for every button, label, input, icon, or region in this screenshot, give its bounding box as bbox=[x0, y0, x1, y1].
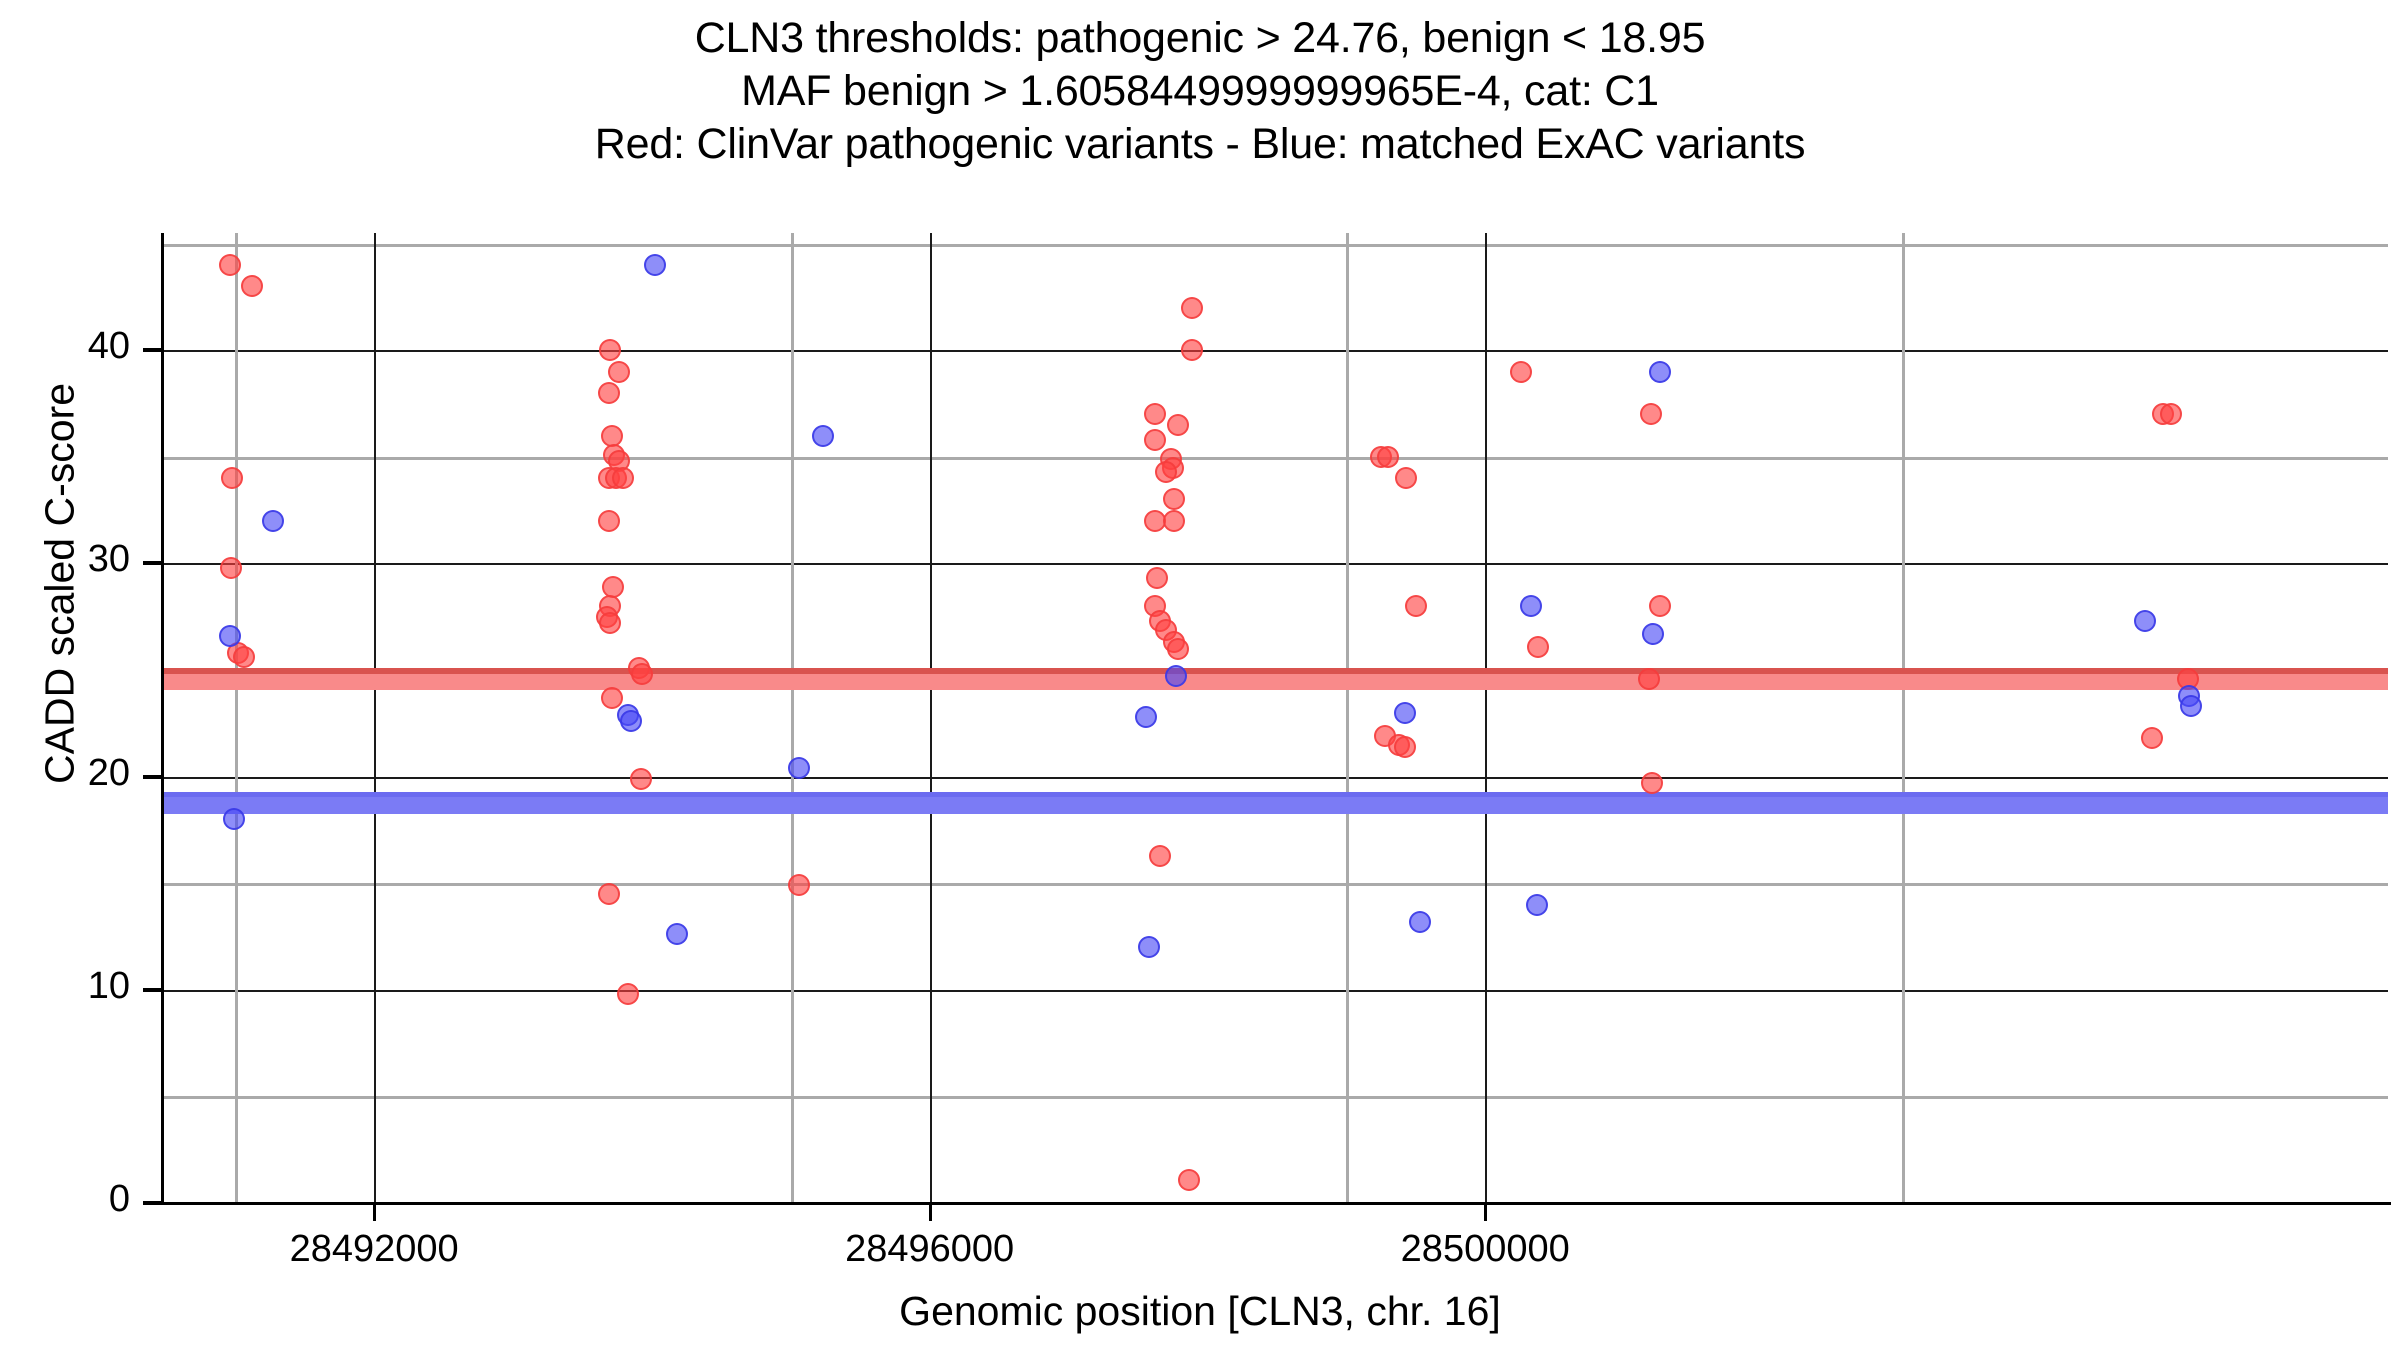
pathogenic-point bbox=[1163, 488, 1185, 510]
benign-point bbox=[2180, 695, 2202, 717]
benign-point bbox=[620, 710, 642, 732]
pathogenic-point bbox=[1167, 638, 1189, 660]
plot-area bbox=[163, 233, 2388, 1203]
pathogenic-point bbox=[241, 275, 263, 297]
pathogenic-point bbox=[219, 254, 241, 276]
pathogenic-point bbox=[612, 467, 634, 489]
y-tick-mark bbox=[143, 1201, 161, 1205]
benign-point bbox=[219, 625, 241, 647]
benign-threshold-line bbox=[163, 792, 2388, 814]
pathogenic-point bbox=[598, 382, 620, 404]
y-axis-line bbox=[161, 233, 164, 1205]
y-gridline-major bbox=[163, 777, 2388, 779]
pathogenic-point bbox=[1640, 403, 1662, 425]
y-gridline-major bbox=[163, 990, 2388, 992]
x-tick-mark bbox=[373, 1205, 376, 1221]
chart-title-line-3: Red: ClinVar pathogenic variants - Blue:… bbox=[0, 118, 2400, 171]
benign-point bbox=[812, 425, 834, 447]
benign-point bbox=[666, 923, 688, 945]
y-tick-label: 0 bbox=[20, 1178, 130, 1221]
y-gridline-major bbox=[163, 563, 2388, 565]
pathogenic-point bbox=[1178, 1169, 1200, 1191]
x-gridline-major bbox=[930, 233, 932, 1203]
pathogenic-point bbox=[601, 687, 623, 709]
y-tick-mark bbox=[143, 775, 161, 779]
benign-point bbox=[262, 510, 284, 532]
x-tick-label: 28492000 bbox=[214, 1228, 534, 1271]
pathogenic-point bbox=[630, 768, 652, 790]
pathogenic-point bbox=[233, 646, 255, 668]
chart-title-line-1: CLN3 thresholds: pathogenic > 24.76, ben… bbox=[0, 12, 2400, 65]
y-tick-mark bbox=[143, 348, 161, 352]
pathogenic-point bbox=[1641, 772, 1663, 794]
pathogenic-point bbox=[1163, 510, 1185, 532]
x-tick-mark bbox=[929, 1205, 932, 1221]
x-axis-title: Genomic position [CLN3, chr. 16] bbox=[0, 1288, 2400, 1335]
pathogenic-point bbox=[1394, 736, 1416, 758]
benign-point bbox=[1165, 665, 1187, 687]
pathogenic-point bbox=[1527, 636, 1549, 658]
y-gridline-minor bbox=[163, 244, 2388, 247]
pathogenic-point bbox=[221, 467, 243, 489]
y-tick-mark bbox=[143, 988, 161, 992]
x-gridline-minor bbox=[235, 233, 238, 1203]
x-tick-label: 28496000 bbox=[770, 1228, 1090, 1271]
benign-point bbox=[1526, 894, 1548, 916]
x-axis-line bbox=[163, 1202, 2391, 1205]
chart-title: CLN3 thresholds: pathogenic > 24.76, ben… bbox=[0, 12, 2400, 171]
y-tick-mark bbox=[143, 561, 161, 565]
pathogenic-point bbox=[1144, 403, 1166, 425]
pathogenic-point bbox=[220, 557, 242, 579]
y-gridline-major bbox=[163, 350, 2388, 352]
benign-point bbox=[1520, 595, 1542, 617]
pathogenic-point bbox=[1146, 567, 1168, 589]
benign-point bbox=[1394, 702, 1416, 724]
y-gridline-minor bbox=[163, 457, 2388, 460]
benign-point bbox=[2134, 610, 2156, 632]
pathogenic-point bbox=[599, 339, 621, 361]
pathogenic-point bbox=[1167, 414, 1189, 436]
pathogenic-point bbox=[2141, 727, 2163, 749]
pathogenic-point bbox=[617, 983, 639, 1005]
x-tick-label: 28500000 bbox=[1325, 1228, 1645, 1271]
x-gridline-major bbox=[374, 233, 376, 1203]
pathogenic-point bbox=[1181, 297, 1203, 319]
y-axis-title: CADD scaled C-score bbox=[37, 174, 84, 994]
x-gridline-minor bbox=[1346, 233, 1349, 1203]
pathogenic-point bbox=[1149, 845, 1171, 867]
scatter-plot-figure: CLN3 thresholds: pathogenic > 24.76, ben… bbox=[0, 0, 2400, 1350]
x-gridline-minor bbox=[791, 233, 794, 1203]
pathogenic-point bbox=[1649, 595, 1671, 617]
pathogenic-point bbox=[1155, 461, 1177, 483]
y-gridline-minor bbox=[163, 1096, 2388, 1099]
x-gridline-major bbox=[1485, 233, 1487, 1203]
pathogenic-point bbox=[2160, 403, 2182, 425]
x-gridline-minor bbox=[1902, 233, 1905, 1203]
pathogenic-point bbox=[1144, 429, 1166, 451]
pathogenic-point bbox=[1405, 595, 1427, 617]
pathogenic-point bbox=[599, 612, 621, 634]
pathogenic-point bbox=[1377, 446, 1399, 468]
pathogenic-point bbox=[598, 510, 620, 532]
benign-point bbox=[1409, 911, 1431, 933]
pathogenic-point bbox=[1510, 361, 1532, 383]
benign-point bbox=[1642, 623, 1664, 645]
chart-title-line-2: MAF benign > 1.6058449999999965E-4, cat:… bbox=[0, 65, 2400, 118]
benign-point bbox=[1138, 936, 1160, 958]
pathogenic-point bbox=[1181, 339, 1203, 361]
pathogenic-point bbox=[1638, 668, 1660, 690]
y-gridline-minor bbox=[163, 883, 2388, 886]
benign-point bbox=[1135, 706, 1157, 728]
benign-point bbox=[644, 254, 666, 276]
pathogenic-point bbox=[608, 361, 630, 383]
x-tick-mark bbox=[1484, 1205, 1487, 1221]
pathogenic-point bbox=[788, 874, 810, 896]
benign-point bbox=[223, 808, 245, 830]
pathogenic-point bbox=[598, 883, 620, 905]
benign-point bbox=[1649, 361, 1671, 383]
pathogenic-point bbox=[1395, 467, 1417, 489]
pathogenic-threshold-line bbox=[163, 668, 2388, 690]
